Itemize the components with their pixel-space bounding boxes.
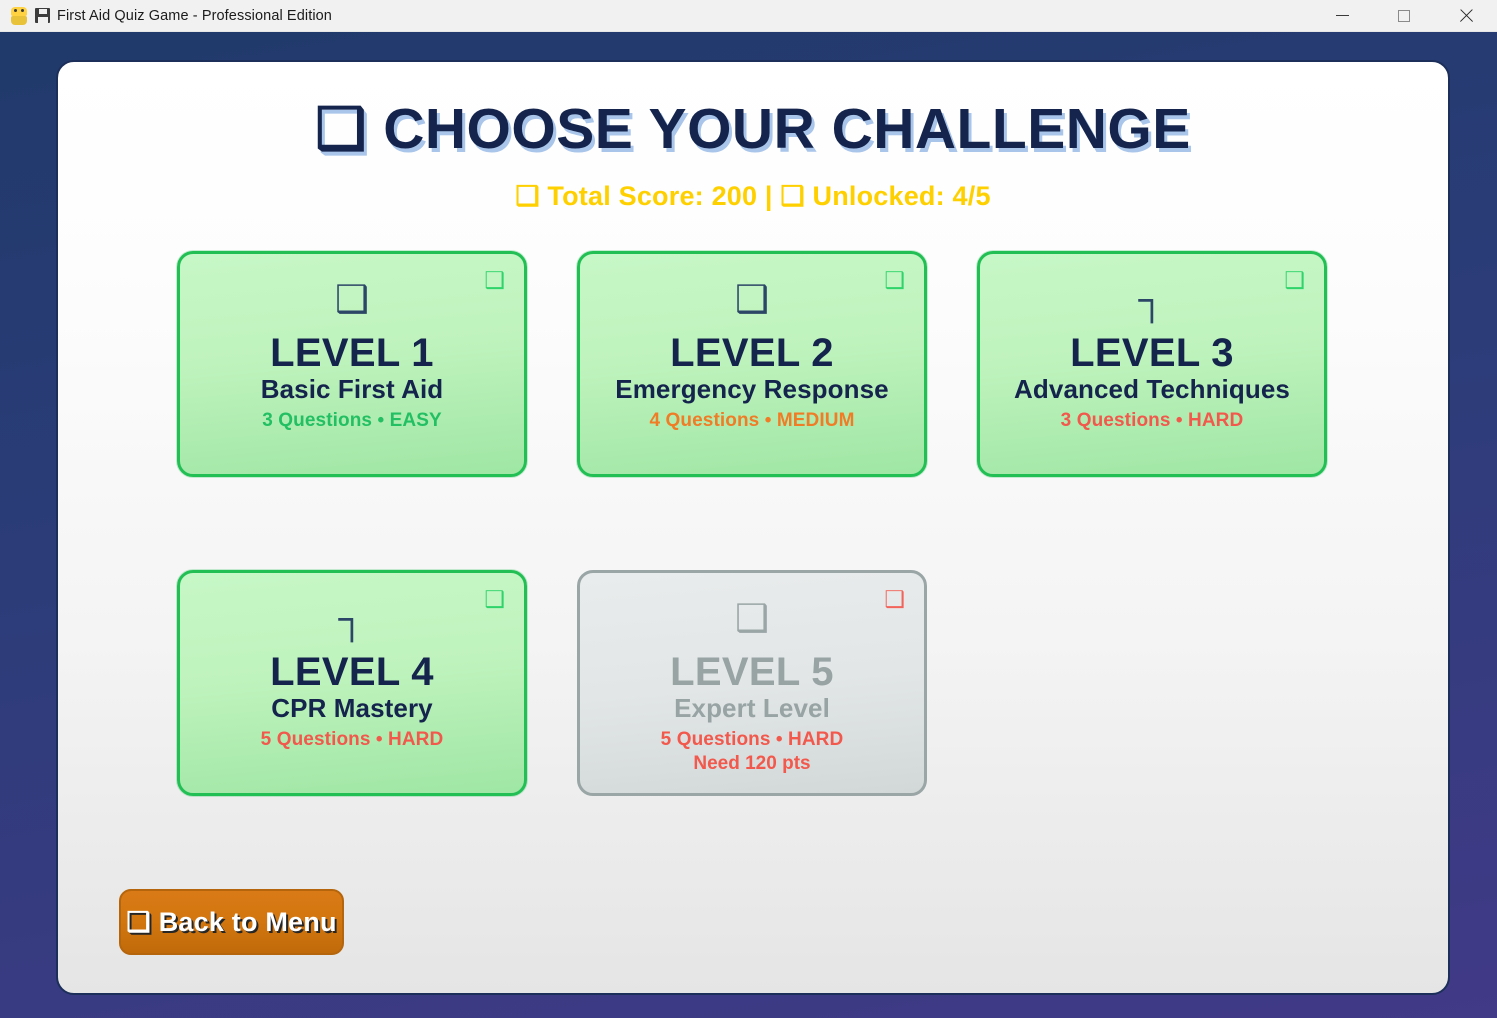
page-title-icon: ❑ xyxy=(315,97,367,161)
score-value: 200 xyxy=(712,181,758,211)
level-card-3[interactable]: ❑ ┐ LEVEL 3 Advanced Techniques 3 Questi… xyxy=(977,251,1327,477)
level-emoji-icon: ┐ xyxy=(339,600,366,638)
unlocked-badge-icon: ❑ xyxy=(884,269,905,292)
minimize-icon xyxy=(1336,15,1349,16)
python-snake-icon xyxy=(10,7,28,25)
page-title: ❑ CHOOSE YOUR CHALLENGE xyxy=(58,100,1448,160)
level-name: Emergency Response xyxy=(615,376,888,403)
maximize-button[interactable] xyxy=(1373,0,1435,32)
unlocked-badge-icon: ❑ xyxy=(1284,269,1305,292)
level-name: Basic First Aid xyxy=(261,376,444,403)
title-bar: First Aid Quiz Game - Professional Editi… xyxy=(0,0,1497,32)
window-title: First Aid Quiz Game - Professional Editi… xyxy=(57,8,332,24)
unlocked-badge-icon: ❑ xyxy=(484,588,505,611)
level-name: Expert Level xyxy=(674,695,830,722)
page-title-text: CHOOSE YOUR CHALLENGE xyxy=(383,97,1191,161)
content-panel: ❑ CHOOSE YOUR CHALLENGE ❑ Total Score: 2… xyxy=(56,60,1450,995)
back-to-menu-button[interactable]: ❑ Back to Menu xyxy=(119,889,344,955)
level-card-2[interactable]: ❑ ❑ LEVEL 2 Emergency Response 4 Questio… xyxy=(577,251,927,477)
level-meta: 3 Questions • EASY xyxy=(262,410,442,432)
level-emoji-icon: ❑ xyxy=(735,600,769,638)
unlocked-label: Unlocked: xyxy=(813,181,945,211)
level-meta: 4 Questions • MEDIUM xyxy=(649,410,854,432)
level-number: LEVEL 2 xyxy=(670,333,834,374)
lock-icon: ❑ xyxy=(884,588,905,611)
level-number: LEVEL 1 xyxy=(270,333,434,374)
level-number: LEVEL 5 xyxy=(670,652,834,693)
level-number: LEVEL 4 xyxy=(270,652,434,693)
minimize-button[interactable] xyxy=(1311,0,1373,32)
close-button[interactable] xyxy=(1435,0,1497,32)
level-name: Advanced Techniques xyxy=(1014,376,1290,403)
level-name: CPR Mastery xyxy=(271,695,433,722)
back-arrow-icon: ❑ xyxy=(126,907,150,938)
unlocked-badge-icon: ❑ xyxy=(484,269,505,292)
level-card-1[interactable]: ❑ ❑ LEVEL 1 Basic First Aid 3 Questions … xyxy=(177,251,527,477)
level-grid: ❑ ❑ LEVEL 1 Basic First Aid 3 Questions … xyxy=(177,251,1329,796)
level-number: LEVEL 3 xyxy=(1070,333,1234,374)
level-meta: 5 Questions • HARD xyxy=(261,729,444,751)
floppy-disk-icon xyxy=(35,8,50,23)
score-icon: ❑ xyxy=(515,181,539,211)
level-card-5[interactable]: ❑ ❑ LEVEL 5 Expert Level 5 Questions • H… xyxy=(577,570,927,796)
title-bar-left: First Aid Quiz Game - Professional Editi… xyxy=(0,7,1311,25)
level-emoji-icon: ❑ xyxy=(335,281,369,319)
level-meta: 5 Questions • HARD xyxy=(661,729,844,751)
level-meta: 3 Questions • HARD xyxy=(1061,410,1244,432)
score-label: Total Score: xyxy=(547,181,703,211)
level-card-4[interactable]: ❑ ┐ LEVEL 4 CPR Mastery 5 Questions • HA… xyxy=(177,570,527,796)
unlocked-icon: ❑ xyxy=(780,181,804,211)
close-icon xyxy=(1459,9,1473,23)
score-status-line: ❑ Total Score: 200 | ❑ Unlocked: 4/5 xyxy=(58,181,1448,212)
maximize-icon xyxy=(1398,10,1410,22)
score-separator: | xyxy=(765,181,773,211)
unlocked-value: 4/5 xyxy=(953,181,991,211)
app-background: ❑ CHOOSE YOUR CHALLENGE ❑ Total Score: 2… xyxy=(0,32,1497,1018)
application-window: First Aid Quiz Game - Professional Editi… xyxy=(0,0,1497,1018)
window-controls xyxy=(1311,0,1497,32)
level-emoji-icon: ┐ xyxy=(1139,281,1166,319)
level-requirement: Need 120 pts xyxy=(693,753,810,775)
back-to-menu-label: Back to Menu xyxy=(159,907,337,938)
level-emoji-icon: ❑ xyxy=(735,281,769,319)
